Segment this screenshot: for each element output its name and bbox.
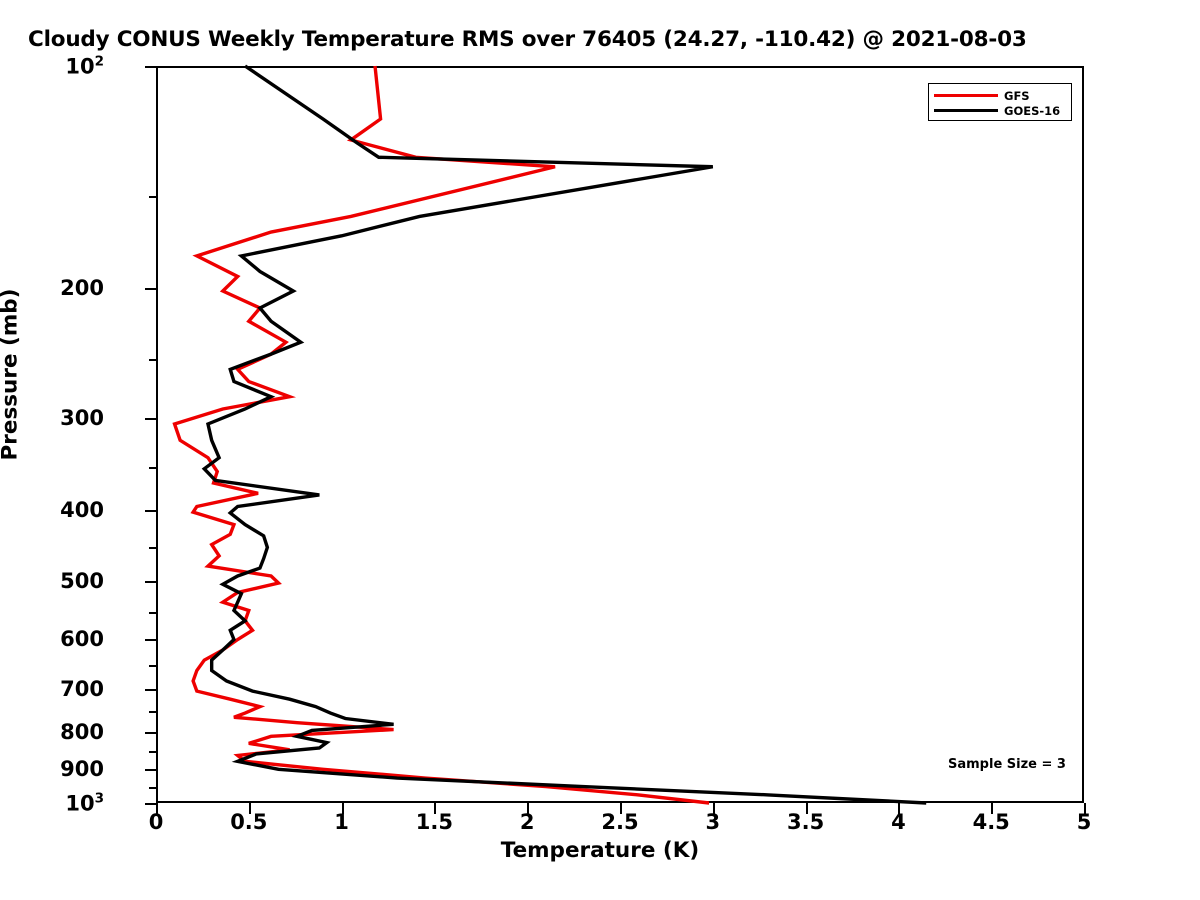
y-tick-label-600: 600: [60, 627, 104, 651]
legend-swatch-gfs: [934, 94, 998, 97]
sample-size-annotation: Sample Size = 3: [948, 757, 1066, 772]
x-tick-label-4.5: 4.5: [973, 810, 1010, 834]
y-axis-title: Pressure (mb): [0, 0, 23, 875]
legend-entry-gfs: GFS: [934, 88, 1066, 103]
legend-label: GOES-16: [1004, 104, 1060, 118]
y-minor-tick-850: [149, 751, 156, 753]
y-minor-tick-150: [149, 196, 156, 198]
legend-swatch-goes-16: [934, 109, 998, 112]
series-line-goes-16: [204, 66, 926, 803]
x-tick-label-1.5: 1.5: [416, 810, 453, 834]
y-tick-800: [145, 732, 156, 734]
x-tick-label-2: 2: [520, 810, 535, 834]
x-axis-title: Temperature (K): [0, 838, 1200, 863]
line-series-svg: [156, 66, 1084, 803]
x-tick-label-1: 1: [334, 810, 349, 834]
legend-label: GFS: [1004, 89, 1030, 103]
y-tick-label-500: 500: [60, 569, 104, 593]
y-tick-700: [145, 689, 156, 691]
y-tick-label-200: 200: [60, 276, 104, 300]
x-tick-label-3: 3: [705, 810, 720, 834]
y-tick-label-700: 700: [60, 677, 104, 701]
y-tick-500: [145, 581, 156, 583]
x-tick-label-5: 5: [1077, 810, 1092, 834]
x-tick-label-0: 0: [149, 810, 164, 834]
plot-area: [156, 66, 1084, 803]
legend-box: GFSGOES-16: [928, 83, 1072, 121]
y-tick-300: [145, 418, 156, 420]
x-tick-label-0.5: 0.5: [230, 810, 267, 834]
y-tick-label-400: 400: [60, 498, 104, 522]
y-tick-400: [145, 510, 156, 512]
y-tick-label-1000: 103: [65, 791, 104, 816]
series-layer: [156, 66, 1084, 803]
y-tick-1000: [145, 803, 156, 805]
x-tick-label-4: 4: [891, 810, 906, 834]
y-minor-tick-550: [149, 612, 156, 614]
x-tick-label-2.5: 2.5: [601, 810, 638, 834]
y-minor-tick-650: [149, 665, 156, 667]
legend-entry-goes-16: GOES-16: [934, 103, 1066, 118]
y-tick-200: [145, 288, 156, 290]
figure-canvas: Cloudy CONUS Weekly Temperature RMS over…: [0, 0, 1200, 900]
y-minor-tick-250: [149, 359, 156, 361]
y-tick-100: [145, 66, 156, 68]
chart-title: Cloudy CONUS Weekly Temperature RMS over…: [28, 27, 1200, 52]
y-tick-label-800: 800: [60, 720, 104, 744]
y-minor-tick-750: [149, 711, 156, 713]
y-tick-900: [145, 769, 156, 771]
y-minor-tick-350: [149, 467, 156, 469]
y-minor-tick-450: [149, 547, 156, 549]
y-minor-tick-950: [149, 787, 156, 789]
x-tick-label-3.5: 3.5: [787, 810, 824, 834]
y-tick-label-300: 300: [60, 406, 104, 430]
y-tick-600: [145, 639, 156, 641]
y-tick-label-100: 102: [65, 54, 104, 79]
y-tick-label-900: 900: [60, 757, 104, 781]
